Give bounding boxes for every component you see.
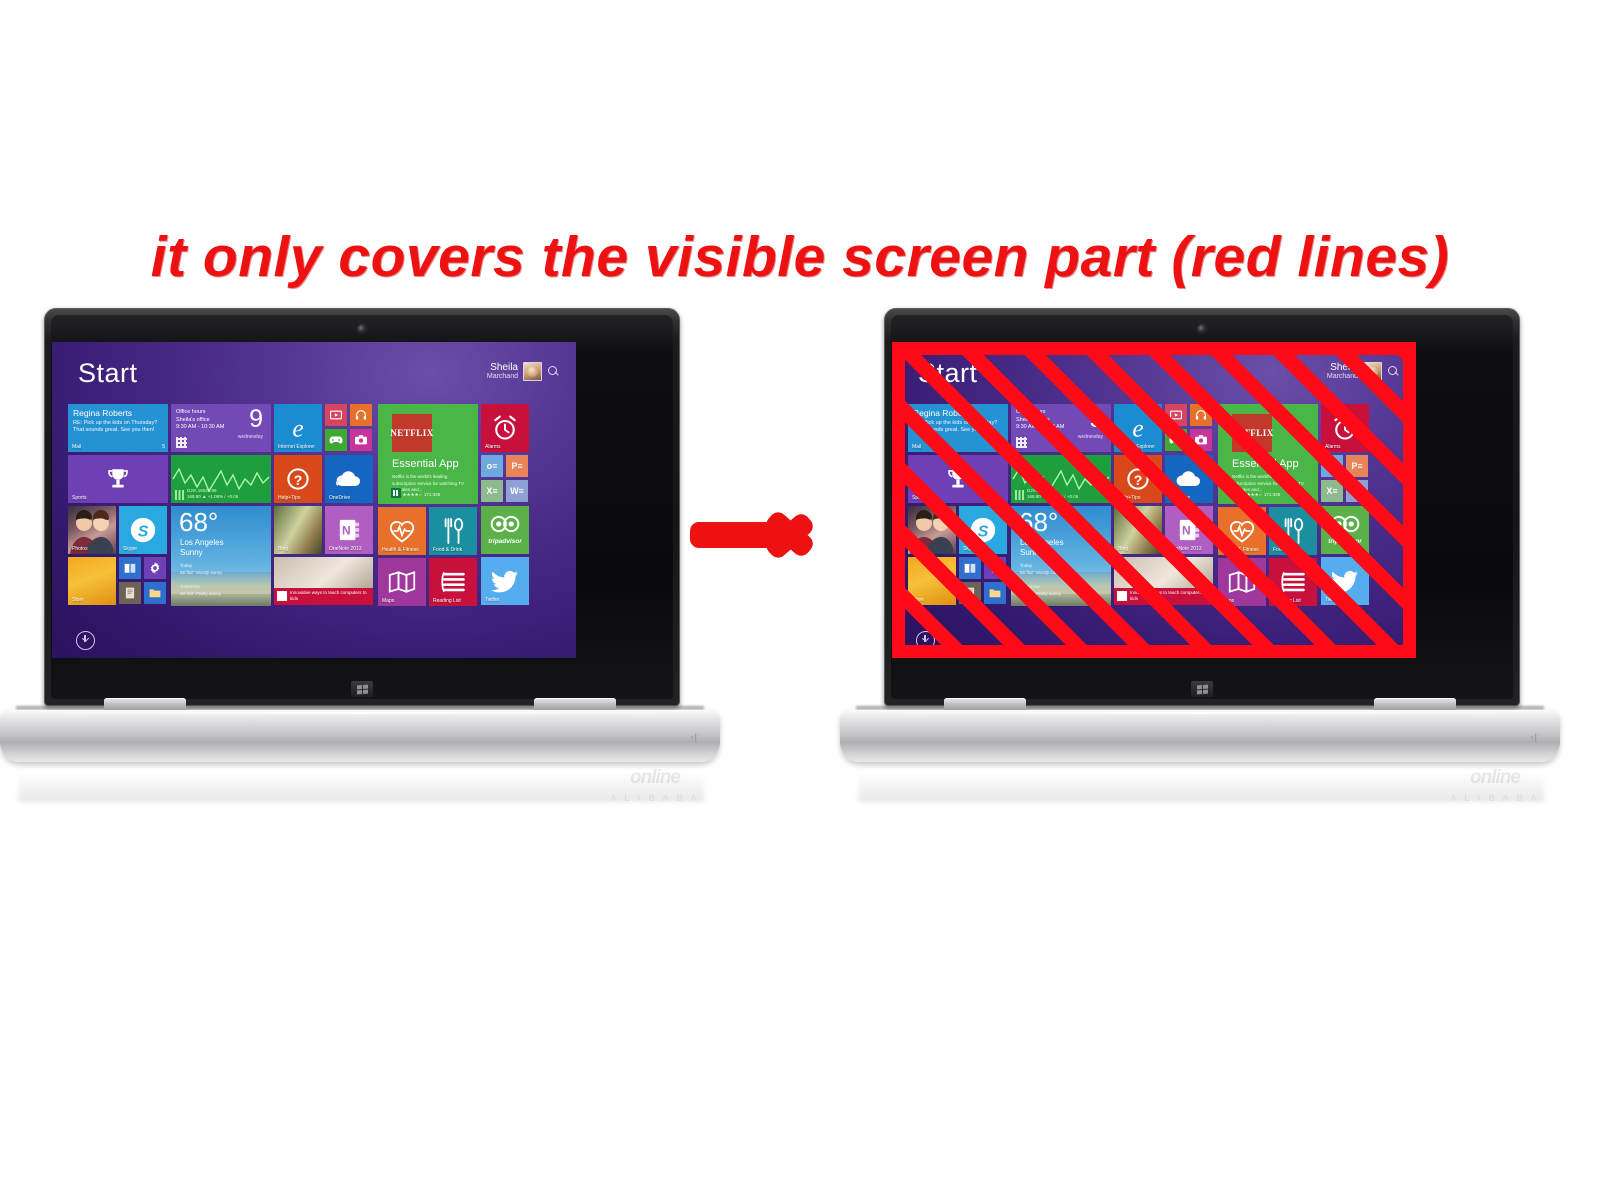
camera-icon bbox=[355, 435, 368, 446]
onenote-icon: N bbox=[338, 518, 360, 542]
mail-count: 5 bbox=[1002, 444, 1005, 450]
weather-tomorrow-detail: 66°/53° Partly sunny bbox=[180, 591, 221, 596]
mail-count: 5 bbox=[162, 444, 165, 450]
user-account[interactable]: Sheila Marchand bbox=[1327, 362, 1400, 381]
store-badge-icon bbox=[1231, 488, 1241, 498]
power-indicator: ◦| bbox=[690, 732, 698, 742]
trophy-icon bbox=[105, 466, 131, 492]
tripadvisor-owl-icon bbox=[489, 515, 521, 533]
netflix-title: Essential App bbox=[392, 458, 459, 470]
calendar-event: Office hours bbox=[1016, 409, 1046, 415]
tile-twitter[interactable]: Twitter bbox=[481, 557, 529, 605]
internet-explorer-icon: e bbox=[1123, 413, 1153, 443]
tile-onedrive[interactable]: OneDrive bbox=[1165, 455, 1213, 503]
weather-today-label: Today bbox=[1020, 563, 1032, 568]
headphones-icon bbox=[1195, 409, 1208, 422]
tile-onenote[interactable]: N OneNote 2013 bbox=[1165, 506, 1213, 554]
heart-pulse-icon bbox=[1228, 518, 1256, 544]
laptop-without-protector: Start Sheila Marchand Regina Roberts RE:… bbox=[0, 300, 720, 800]
tile-grid: Regina Roberts RE: Pick up the kids on T… bbox=[68, 404, 576, 624]
svg-text:?: ? bbox=[294, 472, 303, 488]
tile-music[interactable] bbox=[1190, 404, 1212, 426]
netflix-logo: NETFLIX bbox=[1232, 414, 1272, 452]
tile-label: OneNote 2013 bbox=[1169, 546, 1202, 552]
laptop-with-protector: Start Sheila Marchand Regina Roberts RE:… bbox=[840, 300, 1560, 800]
avatar[interactable] bbox=[523, 362, 542, 381]
tile-label: Health & Fitness bbox=[1222, 547, 1259, 553]
finance-chart-icon bbox=[175, 490, 185, 500]
weather-today-detail: 65°/52° Mostly sunny bbox=[1020, 570, 1062, 575]
map-icon bbox=[388, 570, 416, 594]
onenote-glyph-icon: o≡ bbox=[1327, 461, 1338, 471]
tile-food-drink[interactable]: Food & Drink bbox=[1269, 507, 1317, 555]
tile-finance[interactable]: DJIA 16045.89 168.80 ▲ +1.06% / +0.06 bbox=[171, 455, 271, 503]
tile-scan[interactable] bbox=[119, 582, 141, 604]
onenote-icon: N bbox=[1178, 518, 1200, 542]
webcam-icon bbox=[358, 325, 366, 333]
trophy-icon bbox=[945, 466, 971, 492]
calendar-weekday: wednesday bbox=[1078, 434, 1103, 440]
gear-icon bbox=[988, 561, 1002, 575]
cloud-icon bbox=[334, 468, 364, 490]
base-reflection bbox=[18, 760, 704, 802]
store-badge-icon bbox=[391, 488, 401, 498]
tile-office-word[interactable]: W≡ bbox=[506, 480, 528, 502]
weather-temperature: 68° bbox=[179, 508, 218, 536]
all-apps-down-arrow-icon[interactable] bbox=[76, 631, 95, 650]
tile-sports[interactable]: Sports bbox=[68, 455, 168, 503]
tile-scan[interactable] bbox=[959, 582, 981, 604]
tile-file-explorer[interactable] bbox=[144, 582, 166, 604]
tile-games[interactable] bbox=[1165, 429, 1187, 451]
laptop-base bbox=[840, 710, 1560, 762]
tile-netflix[interactable]: NETFLIX Essential App Netflix is the wor… bbox=[1218, 404, 1318, 504]
question-mark-icon: ? bbox=[284, 465, 312, 493]
tile-label: Twitter bbox=[485, 597, 500, 603]
twitter-bird-icon bbox=[491, 569, 519, 593]
mail-line2: That sounds great. See you then! bbox=[913, 427, 997, 434]
netflix-brand: NETFLIX bbox=[1230, 428, 1274, 438]
headphones-icon bbox=[355, 409, 368, 422]
scan-icon bbox=[125, 587, 136, 600]
tile-games[interactable] bbox=[325, 429, 347, 451]
heart-pulse-icon bbox=[388, 518, 416, 544]
twitter-bird-icon bbox=[1331, 569, 1359, 593]
skype-icon: S bbox=[128, 515, 158, 545]
netflix-description: Netflix is the world's leading subscript… bbox=[1232, 474, 1308, 494]
netflix-brand: NETFLIX bbox=[390, 428, 434, 438]
finance-ticker: DJIA 16045.89 bbox=[187, 488, 217, 493]
tile-alarms[interactable]: Alarms bbox=[481, 404, 529, 452]
tile-pc-settings[interactable] bbox=[984, 557, 1006, 579]
all-apps-down-arrow-icon[interactable] bbox=[916, 631, 935, 650]
reader-icon bbox=[124, 562, 137, 574]
svg-text:N: N bbox=[342, 524, 351, 538]
page-root: it only covers the visible screen part (… bbox=[0, 0, 1600, 1200]
reader-icon bbox=[964, 562, 977, 574]
netflix-logo: NETFLIX bbox=[392, 414, 432, 452]
tile-grid: Regina Roberts RE: Pick up the kids on T… bbox=[908, 404, 1416, 624]
svg-text:?: ? bbox=[1134, 472, 1143, 488]
svg-text:N: N bbox=[1182, 524, 1191, 538]
tripadvisor-brand: tripadvisor bbox=[481, 538, 529, 545]
tile-bing-photo[interactable]: Bing bbox=[274, 506, 322, 554]
finance-chart-icon bbox=[1015, 490, 1025, 500]
tile-label: Bing bbox=[278, 546, 288, 552]
tile-office-onenote[interactable]: o≡ bbox=[481, 455, 503, 477]
svg-text:e: e bbox=[292, 414, 303, 442]
avatar[interactable] bbox=[1363, 362, 1382, 381]
tile-reader[interactable] bbox=[959, 557, 981, 579]
tile-internet-explorer[interactable]: e Internet Explorer bbox=[274, 404, 322, 452]
tile-video[interactable] bbox=[1165, 404, 1187, 426]
weather-tomorrow-detail: 66°/53° Partly sunny bbox=[1020, 591, 1061, 596]
calendar-day-number: 9 bbox=[249, 406, 263, 433]
tile-music[interactable] bbox=[350, 404, 372, 426]
tile-alarms[interactable]: Alarms bbox=[1321, 404, 1369, 452]
tile-bing-photo[interactable]: Bing bbox=[1114, 506, 1162, 554]
tile-health-fitness[interactable]: Health & Fitness bbox=[1218, 507, 1266, 555]
tile-label: Photos bbox=[912, 546, 928, 552]
internet-explorer-icon: e bbox=[283, 413, 313, 443]
tile-store-promo[interactable]: Store bbox=[68, 557, 116, 605]
power-indicator: ◦| bbox=[1530, 732, 1538, 742]
tile-calendar[interactable]: Office hours Sheila's office 9:30 AM - 1… bbox=[1011, 404, 1111, 452]
laptop-base bbox=[0, 710, 720, 762]
tripadvisor-owl-icon bbox=[1329, 515, 1361, 533]
tile-label: Mail bbox=[72, 444, 81, 450]
tile-label: Reading List bbox=[1273, 598, 1301, 604]
tile-label: Internet Explorer bbox=[1118, 444, 1155, 450]
user-last-name: Marchand bbox=[487, 372, 518, 381]
tile-label: OneDrive bbox=[1169, 495, 1190, 501]
tile-reading-list[interactable]: Reading List bbox=[429, 558, 477, 606]
user-first-name: Sheila bbox=[1327, 363, 1358, 372]
tile-label: Maps bbox=[382, 598, 394, 604]
news-headline: Innovative ways to teach computers to ki… bbox=[290, 590, 370, 602]
tile-photos[interactable]: Photos bbox=[908, 506, 956, 554]
tile-twitter[interactable]: Twitter bbox=[1321, 557, 1369, 605]
excel-glyph-icon: X≡ bbox=[1326, 486, 1337, 496]
calendar-day-number: 9 bbox=[1089, 406, 1103, 433]
tile-office-excel[interactable]: X≡ bbox=[1321, 480, 1343, 502]
video-icon bbox=[330, 409, 343, 422]
tile-tripadvisor[interactable]: tripadvisor bbox=[1321, 506, 1369, 554]
onenote-glyph-icon: o≡ bbox=[487, 461, 498, 471]
tile-label: Bing bbox=[1118, 546, 1128, 552]
calendar-event: Office hours bbox=[176, 409, 206, 415]
question-mark-icon: ? bbox=[1124, 465, 1152, 493]
search-icon[interactable] bbox=[1387, 365, 1400, 378]
mail-line1: RE: Pick up the kids on Thursday? bbox=[913, 420, 997, 427]
tile-maps[interactable]: Maps bbox=[1218, 558, 1266, 606]
xbox-controller-icon bbox=[1169, 435, 1183, 446]
alarm-clock-icon bbox=[1331, 414, 1359, 442]
page-title: it only covers the visible screen part (… bbox=[0, 224, 1600, 290]
tile-label: Skype bbox=[123, 546, 137, 552]
tile-store-promo[interactable]: Store bbox=[908, 557, 956, 605]
windows-logo-button[interactable] bbox=[1191, 681, 1213, 697]
tile-label: Store bbox=[912, 597, 924, 603]
news-headline: Innovative ways to teach computers to ki… bbox=[1130, 590, 1210, 602]
weather-tomorrow-label: Tomorrow bbox=[180, 584, 200, 589]
weather-condition: Sunny bbox=[1020, 548, 1043, 557]
weather-tomorrow-label: Tomorrow bbox=[1020, 584, 1040, 589]
tile-label: Skype bbox=[963, 546, 977, 552]
tripadvisor-brand: tripadvisor bbox=[1321, 538, 1369, 545]
svg-text:e: e bbox=[1132, 414, 1143, 442]
fork-spoon-icon bbox=[441, 517, 465, 545]
tile-maps[interactable]: Maps bbox=[378, 558, 426, 606]
powerpoint-glyph-icon: P≡ bbox=[511, 461, 522, 471]
tile-health-fitness[interactable]: Health & Fitness bbox=[378, 507, 426, 555]
finance-change: 168.80 ▲ +1.06% / +0.06 bbox=[1027, 494, 1078, 499]
tile-finance[interactable]: DJIA 16045.89 168.80 ▲ +1.06% / +0.06 bbox=[1011, 455, 1111, 503]
calendar-location: Sheila's office bbox=[176, 417, 210, 423]
scan-icon bbox=[965, 587, 976, 600]
svg-text:S: S bbox=[138, 524, 149, 541]
tile-label: Food & Drink bbox=[433, 547, 462, 553]
mail-sender: Regina Roberts bbox=[913, 408, 997, 418]
tile-label: Help+Tips bbox=[1118, 495, 1140, 501]
powerpoint-glyph-icon: P≡ bbox=[1351, 461, 1362, 471]
tile-camera[interactable] bbox=[1190, 429, 1212, 451]
weather-today-label: Today bbox=[180, 563, 192, 568]
weather-temperature: 68° bbox=[1019, 508, 1058, 536]
tile-label: Alarms bbox=[485, 444, 501, 450]
tile-video[interactable] bbox=[325, 404, 347, 426]
start-screen-left: Start Sheila Marchand Regina Roberts RE:… bbox=[52, 342, 576, 658]
tile-reader[interactable] bbox=[119, 557, 141, 579]
tile-news[interactable]: Innovative ways to teach computers to ki… bbox=[274, 557, 373, 605]
tile-weather[interactable]: 68° Los Angeles Sunny Today 65°/52° Most… bbox=[1011, 506, 1111, 606]
tile-onedrive[interactable]: OneDrive bbox=[325, 455, 373, 503]
weather-today-detail: 65°/52° Mostly sunny bbox=[180, 570, 222, 575]
mail-sender: Regina Roberts bbox=[73, 408, 157, 418]
tile-label: OneNote 2013 bbox=[329, 546, 362, 552]
mail-line1: RE: Pick up the kids on Thursday? bbox=[73, 420, 157, 427]
calendar-glyph-icon bbox=[176, 437, 187, 448]
tile-calendar[interactable]: Office hours Sheila's office 9:30 AM - 1… bbox=[171, 404, 271, 452]
weather-condition: Sunny bbox=[180, 548, 203, 557]
calendar-time: 9:30 AM - 10:30 AM bbox=[176, 424, 224, 430]
tile-label: OneDrive bbox=[329, 495, 350, 501]
tile-news[interactable]: Innovative ways to teach computers to ki… bbox=[1114, 557, 1213, 605]
tile-skype[interactable]: S Skype bbox=[119, 506, 167, 554]
windows-logo-button[interactable] bbox=[351, 681, 373, 697]
tile-label: Health & Fitness bbox=[382, 547, 419, 553]
netflix-title: Essential App bbox=[1232, 458, 1299, 470]
tile-onenote[interactable]: N OneNote 2013 bbox=[325, 506, 373, 554]
tile-label: Help+Tips bbox=[278, 495, 300, 501]
svg-text:S: S bbox=[978, 524, 989, 541]
tile-office-word[interactable]: W≡ bbox=[1346, 480, 1368, 502]
calendar-location: Sheila's office bbox=[1016, 417, 1050, 423]
tile-label: Store bbox=[72, 597, 84, 603]
tile-food-drink[interactable]: Food & Drink bbox=[429, 507, 477, 555]
start-title: Start bbox=[78, 358, 138, 389]
tile-label: Reading List bbox=[433, 598, 461, 604]
tile-mail[interactable]: Regina Roberts RE: Pick up the kids on T… bbox=[908, 404, 1008, 452]
tile-tripadvisor[interactable]: tripadvisor bbox=[481, 506, 529, 554]
weather-city: Los Angeles bbox=[180, 538, 224, 547]
webcam-icon bbox=[1198, 325, 1206, 333]
reading-list-icon bbox=[1279, 570, 1307, 594]
tile-internet-explorer[interactable]: e Internet Explorer bbox=[1114, 404, 1162, 452]
reading-list-icon bbox=[439, 570, 467, 594]
calendar-time: 9:30 AM - 10:30 AM bbox=[1016, 424, 1064, 430]
folder-icon bbox=[989, 587, 1001, 599]
cloud-icon bbox=[1174, 468, 1204, 490]
xbox-controller-icon bbox=[329, 435, 343, 446]
word-glyph-icon: W≡ bbox=[1350, 486, 1364, 496]
tile-reading-list[interactable]: Reading List bbox=[1269, 558, 1317, 606]
tile-netflix[interactable]: NETFLIX Essential App Netflix is the wor… bbox=[378, 404, 478, 504]
base-reflection bbox=[858, 760, 1544, 802]
tile-office-powerpoint[interactable]: P≡ bbox=[1346, 455, 1368, 477]
mail-line2: That sounds great. See you then! bbox=[73, 427, 157, 434]
alarm-clock-icon bbox=[491, 414, 519, 442]
tile-mail[interactable]: Regina Roberts RE: Pick up the kids on T… bbox=[68, 404, 168, 452]
tile-label: Alarms bbox=[1325, 444, 1341, 450]
camera-icon bbox=[1195, 435, 1208, 446]
tile-office-powerpoint[interactable]: P≡ bbox=[506, 455, 528, 477]
video-icon bbox=[1170, 409, 1183, 422]
finance-ticker: DJIA 16045.89 bbox=[1027, 488, 1057, 493]
tile-office-onenote[interactable]: o≡ bbox=[1321, 455, 1343, 477]
fork-spoon-icon bbox=[1281, 517, 1305, 545]
excel-glyph-icon: X≡ bbox=[486, 486, 497, 496]
weather-city: Los Angeles bbox=[1020, 538, 1064, 547]
tile-label: Mail bbox=[912, 444, 921, 450]
skype-icon: S bbox=[968, 515, 998, 545]
tile-skype[interactable]: S Skype bbox=[959, 506, 1007, 554]
tile-pc-settings[interactable] bbox=[144, 557, 166, 579]
tile-camera[interactable] bbox=[350, 429, 372, 451]
calendar-weekday: wednesday bbox=[238, 434, 263, 440]
tile-label: Food & Drink bbox=[1273, 547, 1302, 553]
calendar-glyph-icon bbox=[1016, 437, 1027, 448]
user-last-name: Marchand bbox=[1327, 372, 1358, 381]
tile-sports[interactable]: Sports bbox=[908, 455, 1008, 503]
map-icon bbox=[1228, 570, 1256, 594]
gear-icon bbox=[148, 561, 162, 575]
start-screen-right: Start Sheila Marchand Regina Roberts RE:… bbox=[892, 342, 1416, 658]
tile-label: Sports bbox=[72, 495, 86, 501]
search-icon[interactable] bbox=[547, 365, 560, 378]
tile-label: Photos bbox=[72, 546, 88, 552]
tile-help-tips[interactable]: ? Help+Tips bbox=[1114, 455, 1162, 503]
netflix-description: Netflix is the world's leading subscript… bbox=[392, 474, 468, 494]
tile-office-excel[interactable]: X≡ bbox=[481, 480, 503, 502]
tile-weather[interactable]: 68° Los Angeles Sunny Today 65°/52° Most… bbox=[171, 506, 271, 606]
finance-change: 168.80 ▲ +1.06% / +0.06 bbox=[187, 494, 238, 499]
start-title: Start bbox=[918, 358, 978, 389]
tile-label: Internet Explorer bbox=[278, 444, 315, 450]
tile-photos[interactable]: Photos bbox=[68, 506, 116, 554]
tile-help-tips[interactable]: ? Help+Tips bbox=[274, 455, 322, 503]
user-first-name: Sheila bbox=[487, 363, 518, 372]
tile-file-explorer[interactable] bbox=[984, 582, 1006, 604]
folder-icon bbox=[149, 587, 161, 599]
tile-label: Maps bbox=[1222, 598, 1234, 604]
right-arrow-icon bbox=[690, 500, 840, 570]
word-glyph-icon: W≡ bbox=[510, 486, 524, 496]
user-account[interactable]: Sheila Marchand bbox=[487, 362, 560, 381]
tile-label: Sports bbox=[912, 495, 926, 501]
tile-label: Twitter bbox=[1325, 597, 1340, 603]
